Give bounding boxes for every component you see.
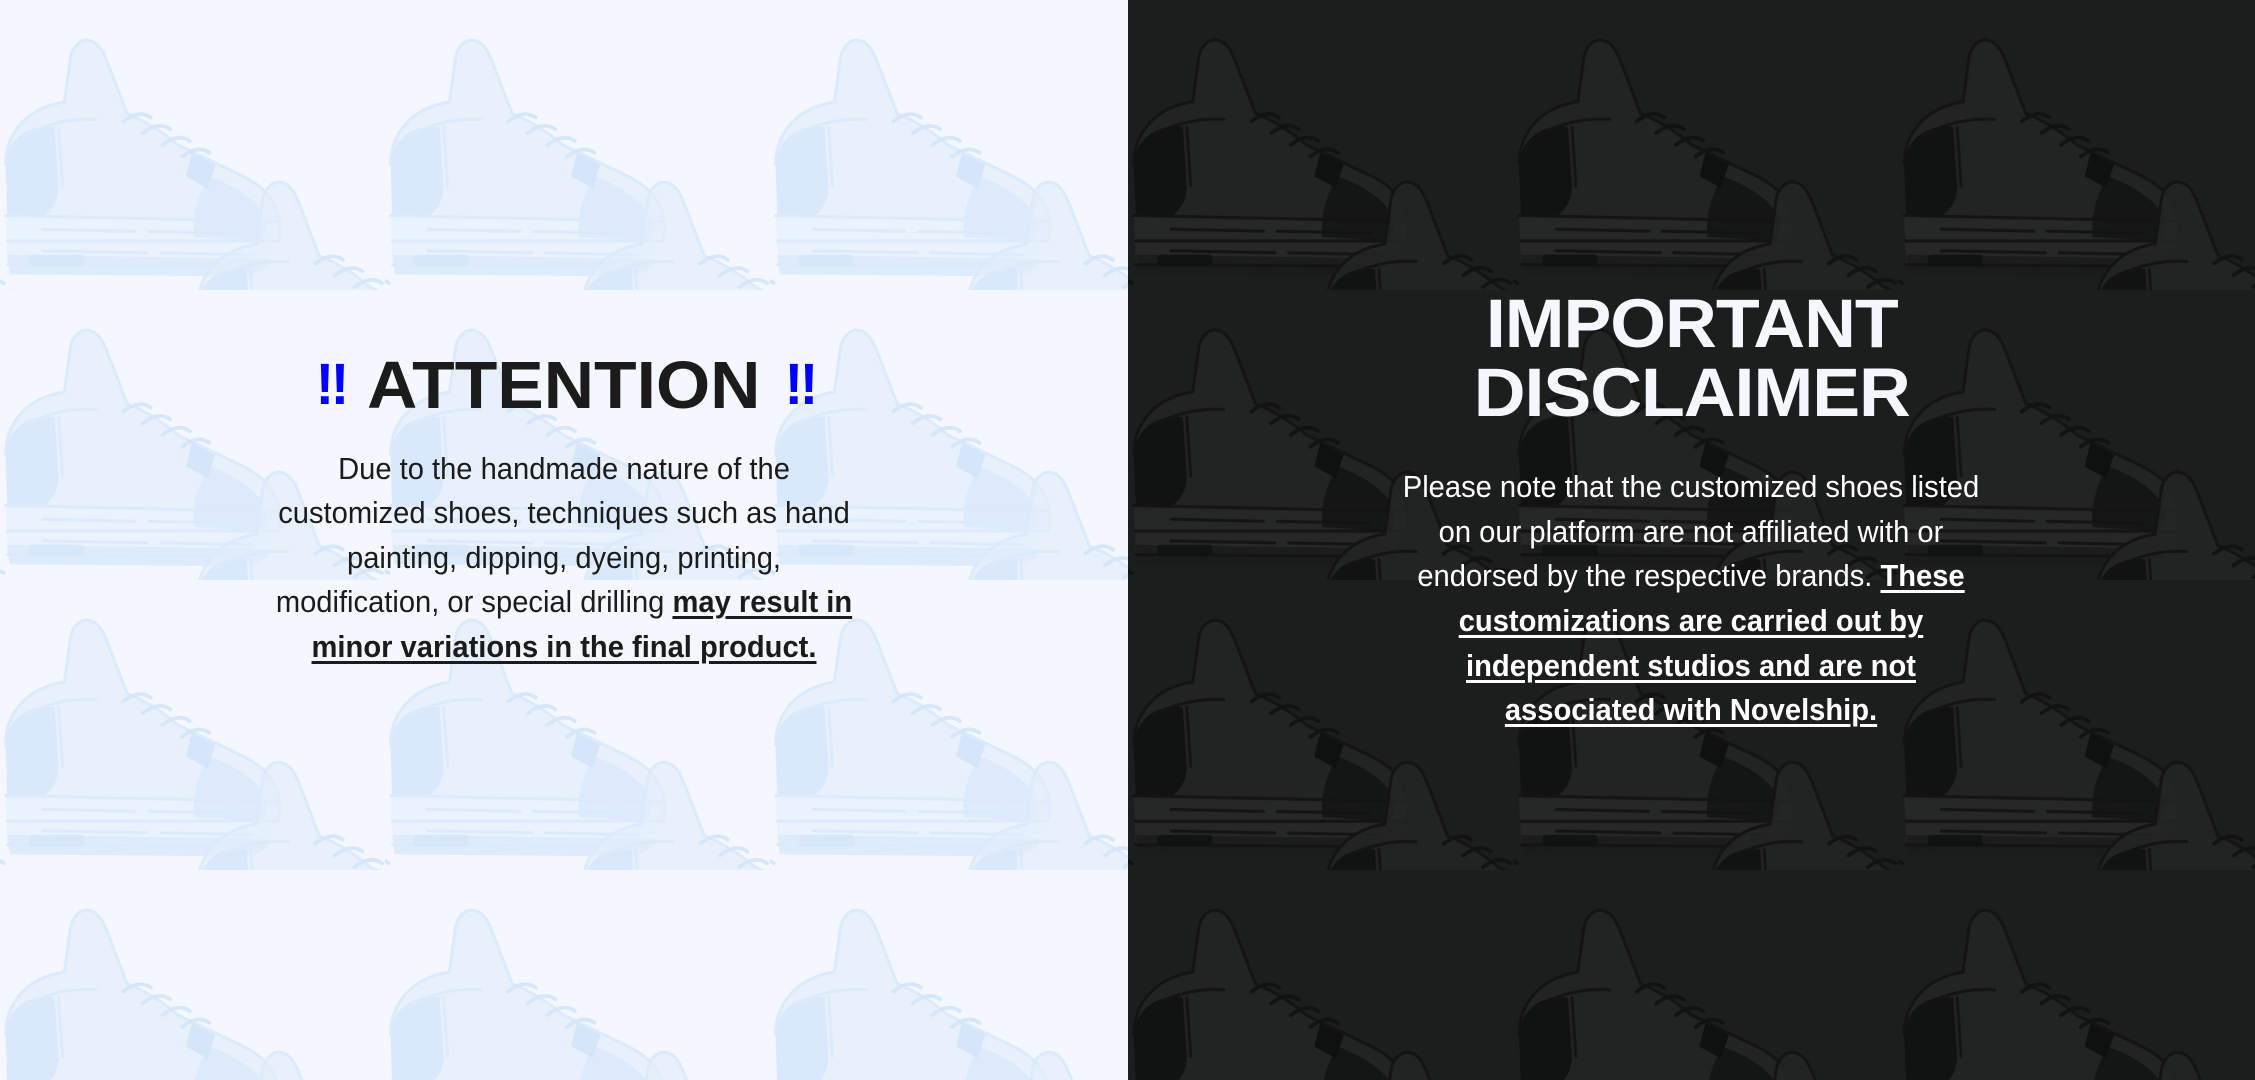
attention-panel: ‼ATTENTION‼ Due to the handmade nature o… bbox=[0, 0, 1128, 1080]
disclaimer-heading-line2: DISCLAIMER bbox=[1473, 354, 1909, 431]
attention-body: Due to the handmade nature of the custom… bbox=[268, 447, 860, 670]
attention-heading: ‼ATTENTION‼ bbox=[19, 353, 1108, 419]
double-exclamation-icon-left: ‼ bbox=[315, 357, 343, 414]
attention-content: ‼ATTENTION‼ Due to the handmade nature o… bbox=[0, 353, 1128, 669]
disclaimer-heading-line1: IMPORTANT bbox=[1485, 285, 1897, 362]
disclaimer-panel: IMPORTANTDISCLAIMER Please note that the… bbox=[1128, 0, 2255, 1080]
attention-heading-text: ATTENTION bbox=[367, 348, 761, 423]
disclaimer-content: IMPORTANTDISCLAIMER Please note that the… bbox=[1128, 289, 2255, 732]
disclaimer-body: Please note that the customized shoes li… bbox=[1395, 465, 1987, 732]
disclaimer-heading: IMPORTANTDISCLAIMER bbox=[1147, 289, 2236, 427]
disclaimer-banner: ‼ATTENTION‼ Due to the handmade nature o… bbox=[0, 0, 2255, 1080]
double-exclamation-icon-right: ‼ bbox=[785, 357, 813, 414]
